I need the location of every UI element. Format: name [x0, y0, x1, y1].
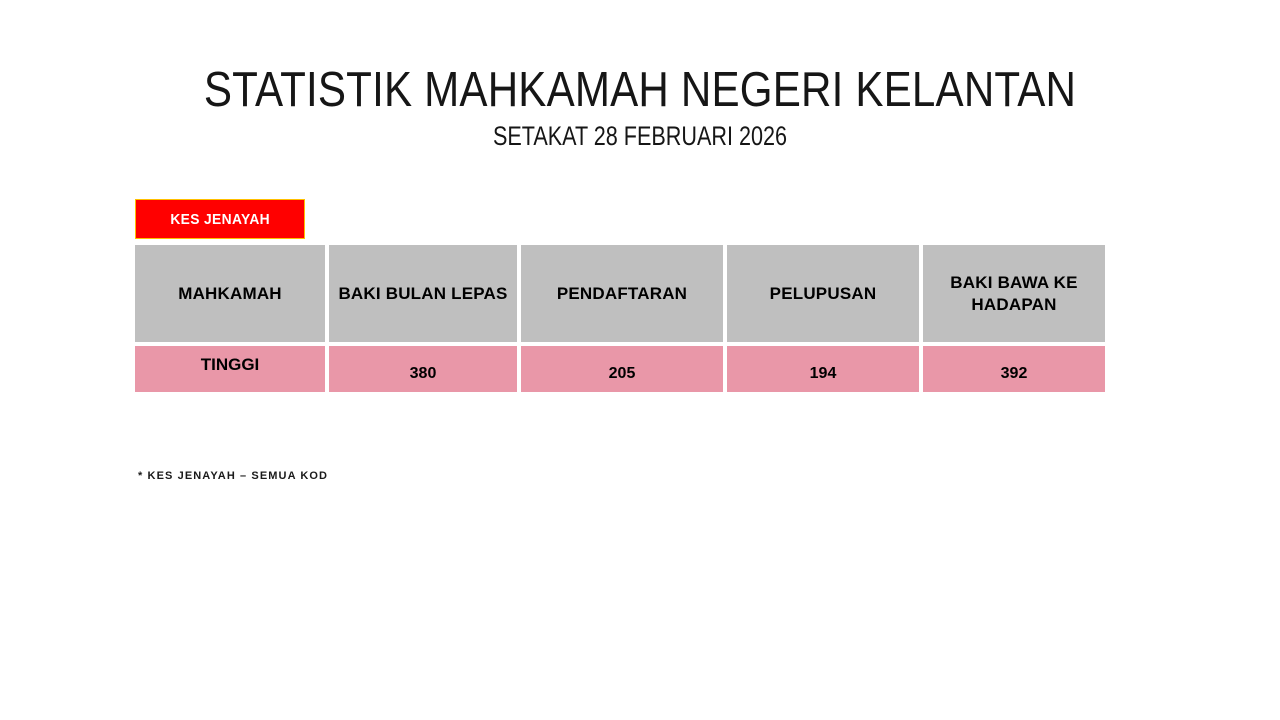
value-baki-bawa-ke-hadapan: 392 — [1001, 365, 1028, 382]
page-subtitle: SETAKAT 28 FEBRUARI 2026 — [128, 120, 1152, 152]
column-header-mahkamah: MAHKAMAH — [135, 245, 329, 342]
table-header-row: MAHKAMAH BAKI BULAN LEPAS PENDAFTARAN PE… — [135, 245, 1105, 342]
category-badge-kes-jenayah: KES JENAYAH — [135, 199, 305, 239]
statistics-table: MAHKAMAH BAKI BULAN LEPAS PENDAFTARAN PE… — [135, 245, 1105, 392]
table-row: TINGGI 380 205 194 392 — [135, 342, 1105, 392]
value-pelupusan: 194 — [810, 365, 837, 382]
column-header-pelupusan: PELUPUSAN — [727, 245, 923, 342]
row-label-tinggi: TINGGI — [201, 355, 260, 374]
cell-baki-bawa-ke-hadapan: 392 — [923, 342, 1105, 392]
cell-mahkamah: TINGGI — [135, 342, 329, 392]
column-header-baki-bulan-lepas: BAKI BULAN LEPAS — [329, 245, 521, 342]
cell-baki-bulan-lepas: 380 — [329, 342, 521, 392]
column-header-baki-bawa-ke-hadapan: BAKI BAWA KE HADAPAN — [923, 245, 1105, 342]
title-block: STATISTIK MAHKAMAH NEGERI KELANTAN SETAK… — [0, 62, 1280, 152]
cell-pelupusan: 194 — [727, 342, 923, 392]
cell-pendaftaran: 205 — [521, 342, 727, 392]
footnote: * KES JENAYAH – SEMUA KOD — [138, 470, 328, 482]
category-badge-label: KES JENAYAH — [170, 211, 270, 228]
column-header-pendaftaran: PENDAFTARAN — [521, 245, 727, 342]
page-title: STATISTIK MAHKAMAH NEGERI KELANTAN — [90, 62, 1191, 118]
value-pendaftaran: 205 — [609, 365, 636, 382]
value-baki-bulan-lepas: 380 — [410, 365, 437, 382]
